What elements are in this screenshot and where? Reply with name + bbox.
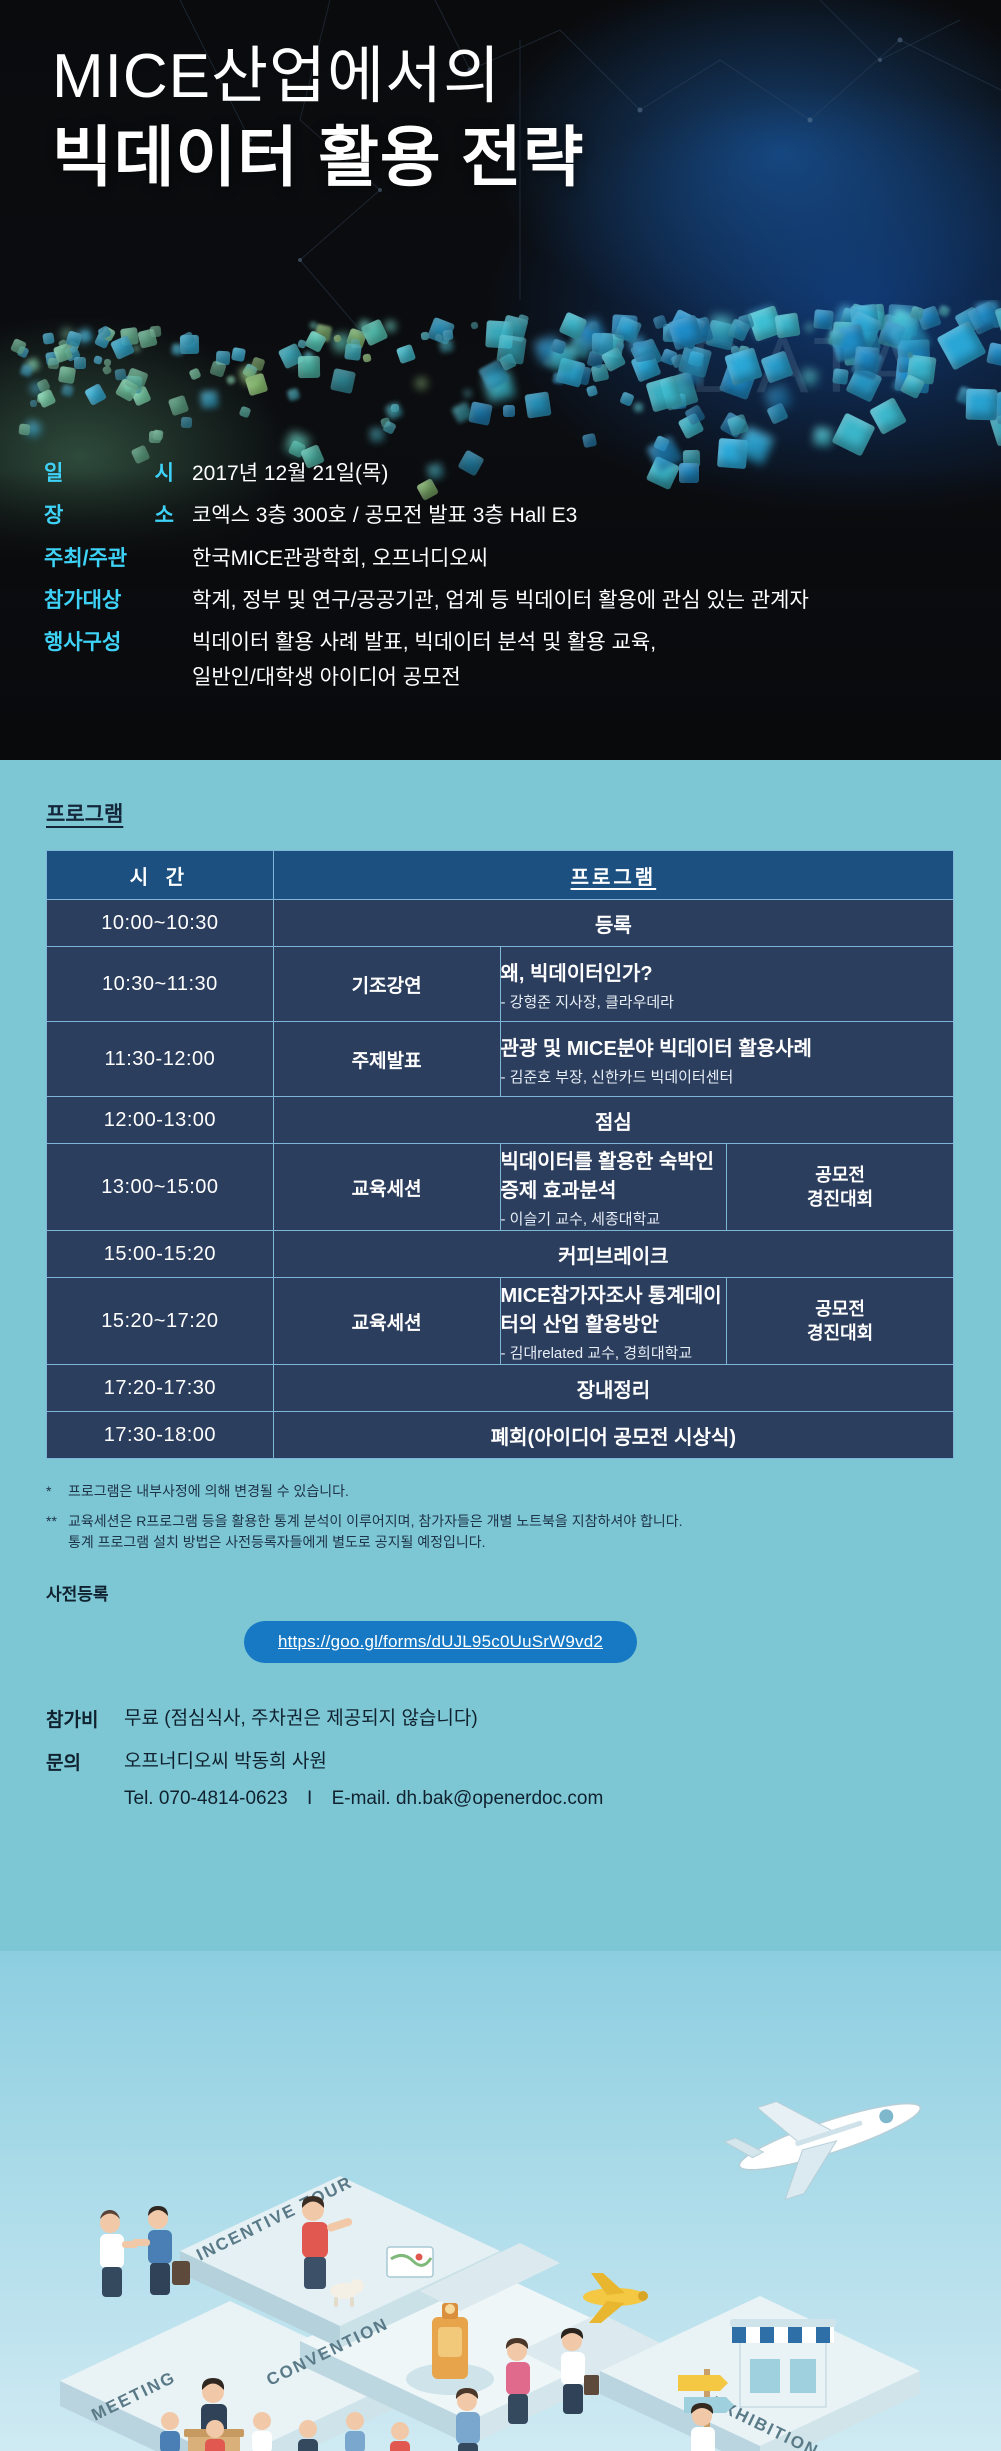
table-row: 12:00-13:00점심 <box>47 1097 954 1144</box>
info-value: 2017년 12월 21일(목) <box>192 460 388 488</box>
table-row: 15:00-15:20커피브레이크 <box>47 1231 954 1278</box>
info-row: 일시2017년 12월 21일(목) <box>44 460 1001 488</box>
registration-url-wrap: https://goo.gl/forms/dUJL95c0UuSrW9vd2 <box>46 1621 955 1663</box>
footnote-line: 교육세션은 R프로그램 등을 활용한 통계 분석이 이루어지며, 참가자들은 개… <box>68 1513 683 1529</box>
footnote-text: 프로그램은 내부사정에 의해 변경될 수 있습니다. <box>68 1481 349 1503</box>
info-value: 한국MICE관광학회, 오프너디오씨 <box>192 545 488 573</box>
cell-session-kind: 교육세션 <box>273 1144 500 1231</box>
info-row: 장소코엑스 3층 300호 / 공모전 발표 3층 Hall E3 <box>44 502 1001 530</box>
cell-session-kind: 기조강연 <box>273 947 500 1022</box>
program-section-title: 프로그램 <box>46 798 955 828</box>
inquiry-value-block: 오프너디오씨 박동희 사원 Tel. 070-4814-0623 I E-mai… <box>124 1748 603 1814</box>
info-value-line: 일반인/대학생 아이디어 공모전 <box>192 664 656 692</box>
contact-line: Tel. 070-4814-0623 I E-mail. dh.bak@open… <box>124 1785 603 1814</box>
session-speaker: - 강형준 지사장, 클라우데라 <box>501 991 954 1012</box>
table-row: 10:30~11:30기조강연왜, 빅데이터인가?- 강형준 지사장, 클라우데… <box>47 947 954 1022</box>
session-title: MICE참가자조사 통계데이터의 산업 활용방안 <box>501 1285 722 1336</box>
event-info-list: 일시2017년 12월 21일(목)장소코엑스 3층 300호 / 공모전 발표… <box>0 460 1001 706</box>
cell-time: 10:30~11:30 <box>47 947 274 1022</box>
info-value-line: 학계, 정부 및 연구/공공기관, 업계 등 빅데이터 활용에 관심 있는 관계… <box>192 589 809 612</box>
footnote: *프로그램은 내부사정에 의해 변경될 수 있습니다. <box>46 1481 955 1503</box>
cell-program-full: 장내정리 <box>273 1365 953 1412</box>
cell-program-full: 폐회(아이디어 공모전 시상식) <box>273 1412 953 1459</box>
info-value-line: 코엑스 3층 300호 / 공모전 발표 3층 Hall E3 <box>192 504 577 527</box>
inquiry-row: 문의 오프너디오씨 박동희 사원 Tel. 070-4814-0623 I E-… <box>46 1748 955 1814</box>
cell-session-desc: 관광 및 MICE분야 빅데이터 활용사례- 김준호 부장, 신한카드 빅데이터… <box>500 1022 954 1097</box>
inquiry-person: 오프너디오씨 박동희 사원 <box>124 1751 327 1772</box>
pre-registration-title: 사전등록 <box>46 1580 955 1605</box>
contact-separator: I <box>293 1785 326 1814</box>
session-speaker: - 이슬기 교수, 세종대학교 <box>501 1208 727 1229</box>
footnote-text: 교육세션은 R프로그램 등을 활용한 통계 분석이 이루어지며, 참가자들은 개… <box>68 1511 683 1554</box>
cell-contest: 공모전경진대회 <box>727 1278 954 1365</box>
cell-time: 11:30-12:00 <box>47 1022 274 1097</box>
info-label: 주최/주관 <box>44 545 192 573</box>
poster-title: MICE산업에서의 빅데이터 활용 전략 <box>52 44 584 192</box>
col-header-time: 시 간 <box>47 851 274 900</box>
mice-illustration: INCENTIVE TOUR MEETING CONVENTION EXHIBI… <box>0 1951 1001 2451</box>
footnotes: *프로그램은 내부사정에 의해 변경될 수 있습니다.**교육세션은 R프로그램… <box>46 1481 955 1554</box>
contest-line: 경진대회 <box>727 1187 953 1211</box>
cell-time: 15:20~17:20 <box>47 1278 274 1365</box>
contest-line: 공모전 <box>727 1163 953 1187</box>
footnote-marker: ** <box>46 1511 68 1554</box>
fee-label: 참가비 <box>46 1705 124 1732</box>
cell-session-desc: MICE참가자조사 통계데이터의 산업 활용방안- 김대related 교수, … <box>500 1278 727 1365</box>
info-value-line: 빅데이터 활용 사례 발표, 빅데이터 분석 및 활용 교육, <box>192 631 656 654</box>
table-row: 17:20-17:30장내정리 <box>47 1365 954 1412</box>
col-header-program: 프로그램 <box>273 851 953 900</box>
info-label-part: 시 <box>155 460 174 488</box>
info-label-part: 장 <box>44 502 63 530</box>
hero-banner: DATA MICE산업에서의 빅데이터 활용 전략 일시2017년 12월 21… <box>0 0 1001 760</box>
program-section: 프로그램 시 간 프로그램 10:00~10:30등록10:30~11:30기조… <box>0 760 1001 1814</box>
info-value: 코엑스 3층 300호 / 공모전 발표 3층 Hall E3 <box>192 502 577 530</box>
info-label: 참가대상 <box>44 587 192 615</box>
info-value-line: 2017년 12월 21일(목) <box>192 462 388 485</box>
cell-time: 15:00-15:20 <box>47 1231 274 1278</box>
cell-contest: 공모전경진대회 <box>727 1144 954 1231</box>
cell-session-desc: 왜, 빅데이터인가?- 강형준 지사장, 클라우데라 <box>500 947 954 1022</box>
info-label: 행사구성 <box>44 629 192 657</box>
cell-time: 10:00~10:30 <box>47 900 274 947</box>
info-value: 학계, 정부 및 연구/공공기관, 업계 등 빅데이터 활용에 관심 있는 관계… <box>192 587 809 615</box>
cell-session-desc: 빅데이터를 활용한 숙박인증제 효과분석- 이슬기 교수, 세종대학교 <box>500 1144 727 1231</box>
session-speaker: - 김준호 부장, 신한카드 빅데이터센터 <box>501 1066 954 1087</box>
contact-tel: Tel. 070-4814-0623 <box>124 1788 288 1809</box>
contact-email: E-mail. dh.bak@openerdoc.com <box>332 1788 604 1809</box>
table-row: 15:20~17:20교육세션MICE참가자조사 통계데이터의 산업 활용방안-… <box>47 1278 954 1365</box>
footnote: **교육세션은 R프로그램 등을 활용한 통계 분석이 이루어지며, 참가자들은… <box>46 1511 955 1554</box>
info-row: 주최/주관한국MICE관광학회, 오프너디오씨 <box>44 545 1001 573</box>
cell-time: 12:00-13:00 <box>47 1097 274 1144</box>
cell-program-full: 커피브레이크 <box>273 1231 953 1278</box>
info-value-line: 한국MICE관광학회, 오프너디오씨 <box>192 547 488 570</box>
info-row: 행사구성빅데이터 활용 사례 발표, 빅데이터 분석 및 활용 교육,일반인/대… <box>44 629 1001 692</box>
event-poster: DATA MICE산업에서의 빅데이터 활용 전략 일시2017년 12월 21… <box>0 0 1001 2451</box>
fee-value: 무료 (점심식사, 주차권은 제공되지 않습니다) <box>124 1705 478 1734</box>
cell-session-kind: 주제발표 <box>273 1022 500 1097</box>
info-label: 장소 <box>44 502 192 530</box>
fee-row: 참가비 무료 (점심식사, 주차권은 제공되지 않습니다) <box>46 1705 955 1734</box>
contact-block: 참가비 무료 (점심식사, 주차권은 제공되지 않습니다) 문의 오프너디오씨 … <box>46 1705 955 1814</box>
cell-program-full: 점심 <box>273 1097 953 1144</box>
booth-canopy <box>732 2325 834 2343</box>
info-label: 일시 <box>44 460 192 488</box>
illustration-svg: INCENTIVE TOUR MEETING CONVENTION EXHIBI… <box>0 1951 1001 2451</box>
session-title: 왜, 빅데이터인가? <box>501 963 653 985</box>
footnote-line: 프로그램은 내부사정에 의해 변경될 수 있습니다. <box>68 1483 349 1499</box>
cell-session-kind: 교육세션 <box>273 1278 500 1365</box>
program-table-head: 시 간 프로그램 <box>47 851 954 900</box>
table-row: 10:00~10:30등록 <box>47 900 954 947</box>
contest-line: 경진대회 <box>727 1321 953 1345</box>
person-standing-pink <box>506 2338 530 2424</box>
info-row: 참가대상학계, 정부 및 연구/공공기관, 업계 등 빅데이터 활용에 관심 있… <box>44 587 1001 615</box>
program-table: 시 간 프로그램 10:00~10:30등록10:30~11:30기조강연왜, … <box>46 850 954 1459</box>
session-title: 빅데이터를 활용한 숙박인증제 효과분석 <box>501 1151 715 1202</box>
title-line-1: MICE산업에서의 <box>52 44 584 109</box>
contest-line: 공모전 <box>727 1297 953 1321</box>
table-row: 17:30-18:00폐회(아이디어 공모전 시상식) <box>47 1412 954 1459</box>
info-label-part: 소 <box>155 502 174 530</box>
session-speaker: - 김대related 교수, 경희대학교 <box>501 1342 727 1363</box>
table-header-row: 시 간 프로그램 <box>47 851 954 900</box>
table-row: 11:30-12:00주제발표관광 및 MICE분야 빅데이터 활용사례- 김준… <box>47 1022 954 1097</box>
footnote-marker: * <box>46 1481 68 1503</box>
footnote-line: 통계 프로그램 설치 방법은 사전등록자들에게 별도로 공지될 예정입니다. <box>68 1532 683 1554</box>
cell-program-full: 등록 <box>273 900 953 947</box>
table-row: 13:00~15:00교육세션빅데이터를 활용한 숙박인증제 효과분석- 이슬기… <box>47 1144 954 1231</box>
session-title: 관광 및 MICE분야 빅데이터 활용사례 <box>501 1038 812 1060</box>
cell-time: 17:30-18:00 <box>47 1412 274 1459</box>
cell-time: 17:20-17:30 <box>47 1365 274 1412</box>
info-label-part: 일 <box>44 460 63 488</box>
program-table-body: 10:00~10:30등록10:30~11:30기조강연왜, 빅데이터인가?- … <box>47 900 954 1459</box>
exhibition-booth <box>730 2319 836 2407</box>
cell-time: 13:00~15:00 <box>47 1144 274 1231</box>
person-with-map <box>387 2247 433 2277</box>
title-line-2: 빅데이터 활용 전략 <box>52 123 584 192</box>
registration-url-button[interactable]: https://goo.gl/forms/dUJL95c0UuSrW9vd2 <box>244 1621 637 1663</box>
info-value: 빅데이터 활용 사례 발표, 빅데이터 분석 및 활용 교육,일반인/대학생 아… <box>192 629 656 692</box>
inquiry-label: 문의 <box>46 1748 124 1775</box>
